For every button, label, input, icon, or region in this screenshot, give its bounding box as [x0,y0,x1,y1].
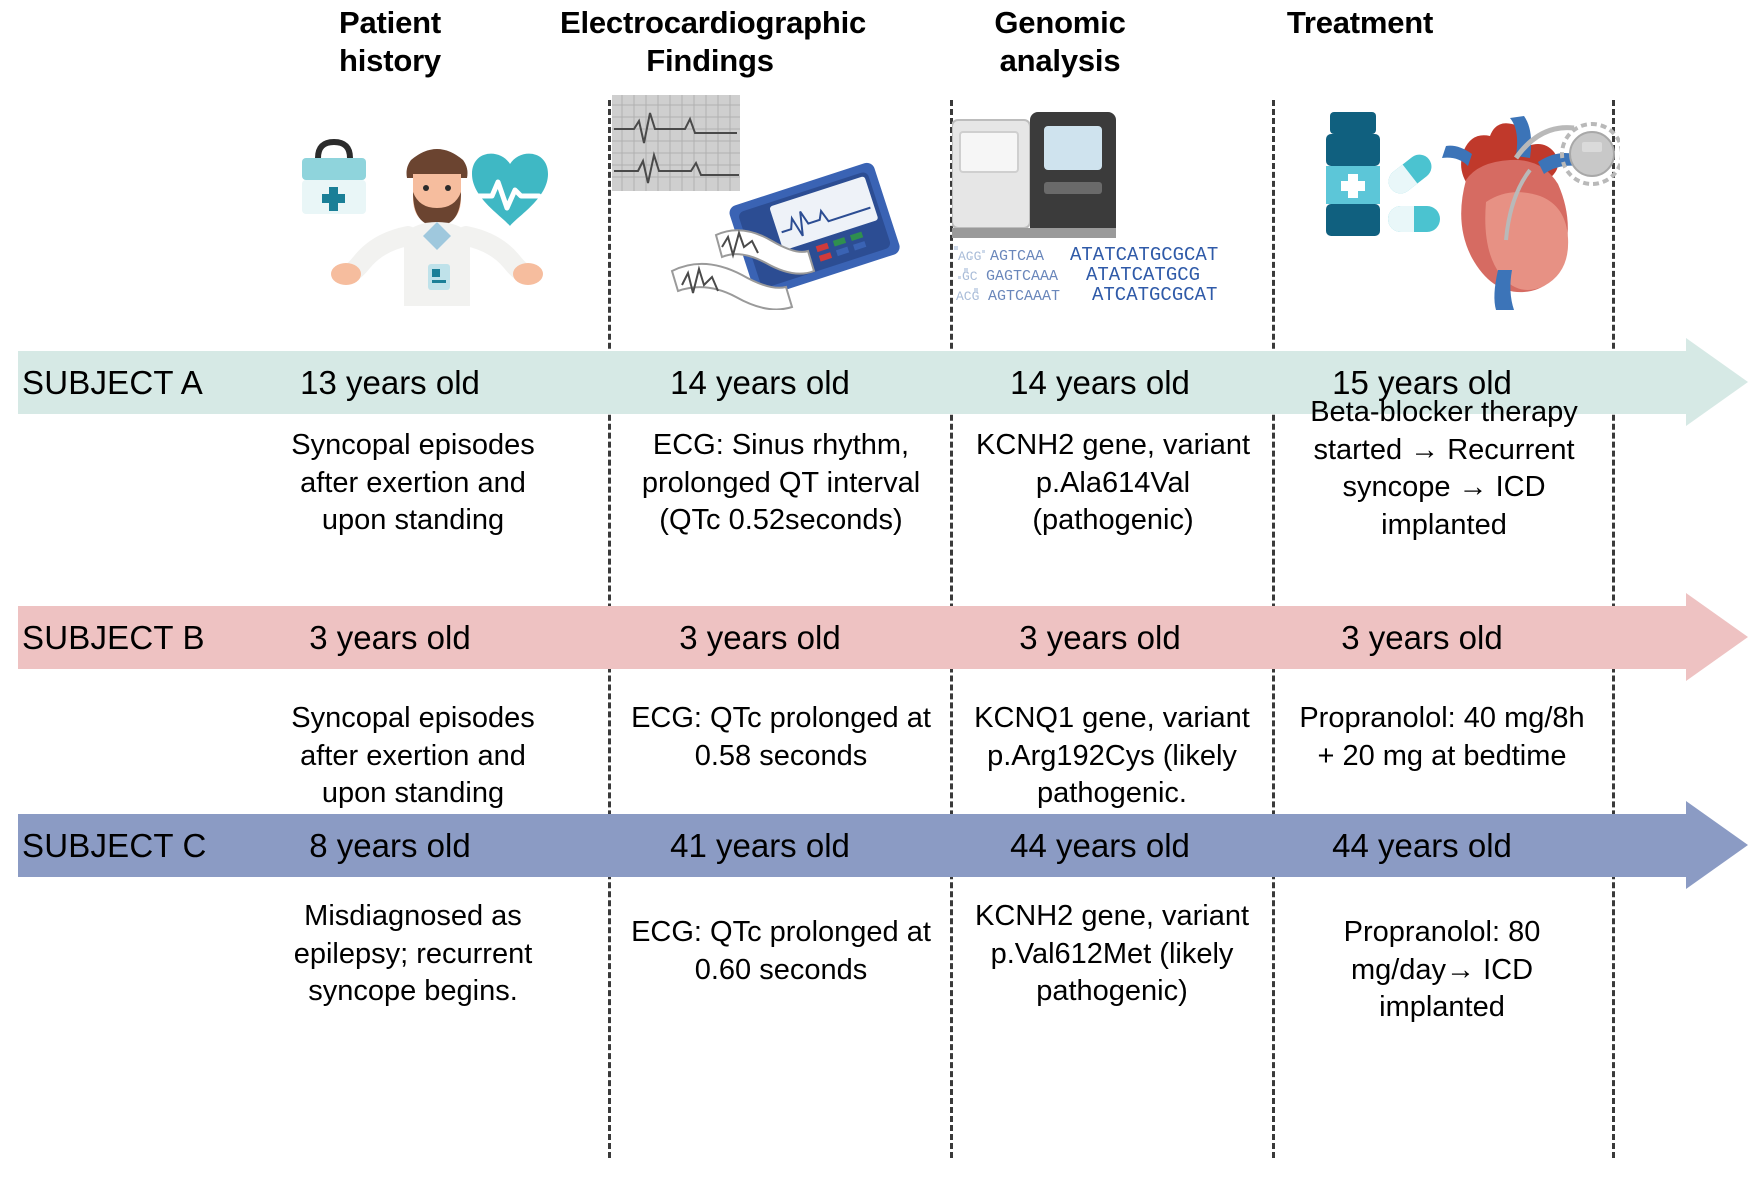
subject-b-detail-patient-history: Syncopal episodes after exertion and upo… [268,700,558,813]
ecg-machine-icon [727,161,901,299]
column-title-ecg-findings: Electrocardiographic Findings [560,4,860,80]
subject-a-age-genomic-analysis: 14 years old [950,351,1250,414]
subject-b-detail-ecg-findings: ECG: QTc prolonged at 0.58 seconds [628,700,934,775]
dna-sequencer-machine-icon [952,112,1116,238]
subject-c-age-patient-history: 8 years old [240,814,540,877]
subject-a-detail-ecg-findings: ECG: Sinus rhythm, prolonged QT interval… [628,427,934,540]
subject-b-age-treatment: 3 years old [1272,606,1572,669]
subject-b-band-arrowhead [1686,593,1748,681]
column-title-line1: Treatment [1230,4,1490,42]
clinical-timeline-figure: Patient history Electrocardiographic Fin… [0,0,1755,1178]
subject-b-age-patient-history: 3 years old [240,606,540,669]
subject-b-detail-genomic-analysis: KCNQ1 gene, variant p.Arg192Cys (likely … [962,700,1262,813]
svg-text:AGTCAA: AGTCAA [990,248,1044,265]
subject-c-age-genomic-analysis: 44 years old [950,814,1250,877]
subject-b-detail-treatment: Propranolol: 40 mg/8h + 20 mg at bedtime [1292,700,1592,775]
subject-a-age-ecg-findings: 14 years old [610,351,910,414]
subject-a-label: SUBJECT A [22,351,203,414]
subject-a-detail-treatment: Beta-blocker therapy started → Recurrent… [1288,394,1600,545]
subject-c-detail-treatment: Propranolol: 80 mg/day→ ICD implanted [1292,914,1592,1027]
svg-text:GAGTCAAA: GAGTCAAA [986,268,1058,285]
medical-bag-icon [302,142,366,214]
capsule-pills-icon [1384,150,1440,232]
column-title-patient-history: Patient history [250,4,530,80]
treatment-illustration [1320,110,1620,310]
pill-bottle-icon [1326,112,1380,236]
subject-a-detail-genomic-analysis: KCNH2 gene, variant p.Ala614Val (pathoge… [968,427,1258,540]
genomic-illustration: ACG AGTCAA ATATCATGCGCAT GC GAGTCAAA ATA… [952,110,1272,305]
column-title-line2: history [250,42,530,80]
svg-text:ATATCATGCGCAT: ATATCATGCGCAT [1070,244,1218,266]
svg-text:AGTCAAAT: AGTCAAAT [988,288,1060,305]
subject-b-label: SUBJECT B [22,606,205,669]
column-title-line2: analysis [930,42,1190,80]
column-title-line2: Findings [560,42,860,80]
column-title-treatment: Treatment [1230,4,1490,42]
subject-a-age-patient-history: 13 years old [240,351,540,414]
subject-c-detail-ecg-findings: ECG: QTc prolonged at 0.60 seconds [628,914,934,989]
column-title-line1: Electrocardiographic [560,4,860,42]
subject-b-age-ecg-findings: 3 years old [610,606,910,669]
column-title-genomic-analysis: Genomic analysis [930,4,1190,80]
heart-pulse-icon [472,154,548,226]
subject-c-age-ecg-findings: 41 years old [610,814,910,877]
subject-c-label: SUBJECT C [22,814,207,877]
patient-history-illustration [300,118,575,308]
subject-c-age-treatment: 44 years old [1272,814,1572,877]
subject-c-detail-patient-history: Misdiagnosed as epilepsy; recurrent sync… [268,898,558,1011]
column-title-line1: Patient [250,4,530,42]
subject-c-detail-genomic-analysis: KCNH2 gene, variant p.Val612Met (likely … [962,898,1262,1011]
ecg-strip-photo-icon [612,95,740,191]
subject-b-age-genomic-analysis: 3 years old [950,606,1250,669]
svg-text:ATATCATGCG: ATATCATGCG [1086,264,1200,286]
subject-c-band-arrowhead [1686,801,1748,889]
subject-a-detail-patient-history: Syncopal episodes after exertion and upo… [268,427,558,540]
svg-text:ATCATGCGCAT: ATCATGCGCAT [1092,284,1217,305]
column-title-line1: Genomic [930,4,1190,42]
subject-a-band-arrowhead [1686,338,1748,426]
svg-text:ACG: ACG [958,249,981,264]
dna-sequence-text-icon: ACG AGTCAA ATATCATGCGCAT GC GAGTCAAA ATA… [954,244,1218,305]
ecg-illustration [612,95,912,310]
